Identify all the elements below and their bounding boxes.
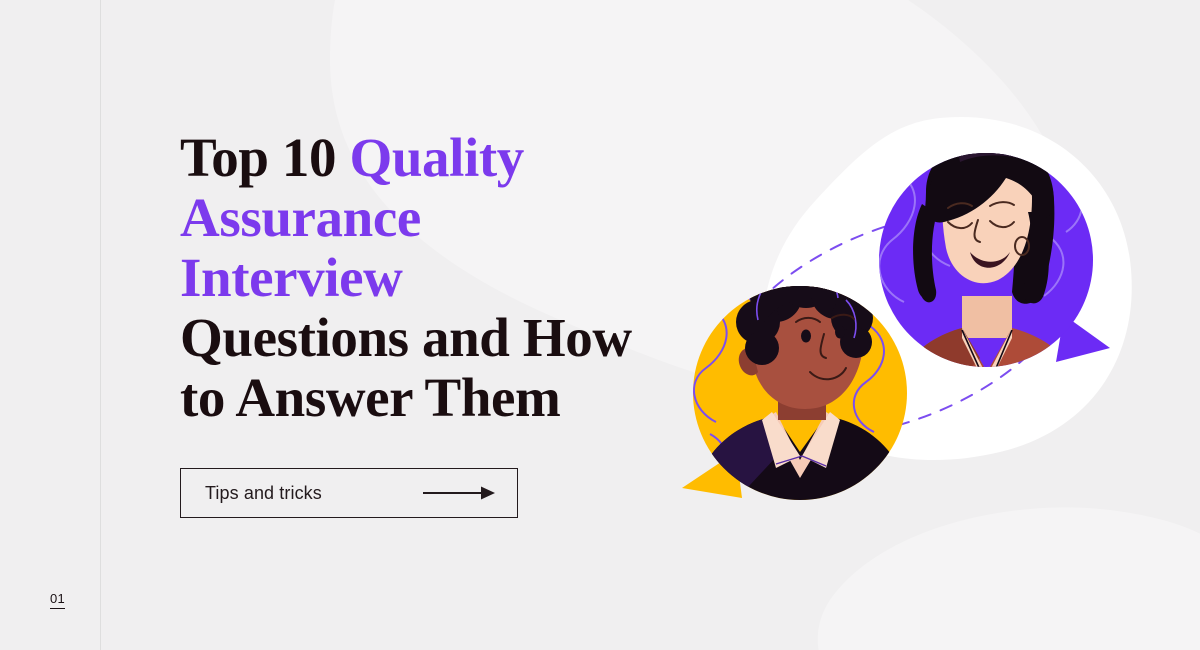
page-number: 01: [50, 592, 65, 609]
man-eye-right: [835, 326, 845, 339]
tips-and-tricks-label: Tips and tricks: [205, 483, 322, 504]
page-title: Top 10 Quality Assurance Interview Quest…: [180, 128, 700, 428]
speech-bubble-avatars-graphic: [640, 100, 1160, 540]
headline-line-1-plain: Top 10: [180, 127, 349, 188]
headline-block: Top 10 Quality Assurance Interview Quest…: [180, 128, 700, 428]
tips-and-tricks-button[interactable]: Tips and tricks: [180, 468, 518, 518]
headline-line-1-accent: Quality: [349, 127, 523, 188]
left-vertical-rule: [100, 0, 101, 650]
woman-neck: [962, 296, 1012, 338]
headline-line-2-accent: Assurance: [180, 187, 421, 248]
man-eye-left: [801, 330, 811, 343]
headline-line-4-plain: Questions and How: [180, 307, 632, 368]
headline-line-5-plain: to Answer Them: [180, 367, 560, 428]
illustration: [640, 100, 1160, 540]
arrow-right-icon: [423, 485, 495, 501]
headline-line-3-accent: Interview: [180, 247, 402, 308]
